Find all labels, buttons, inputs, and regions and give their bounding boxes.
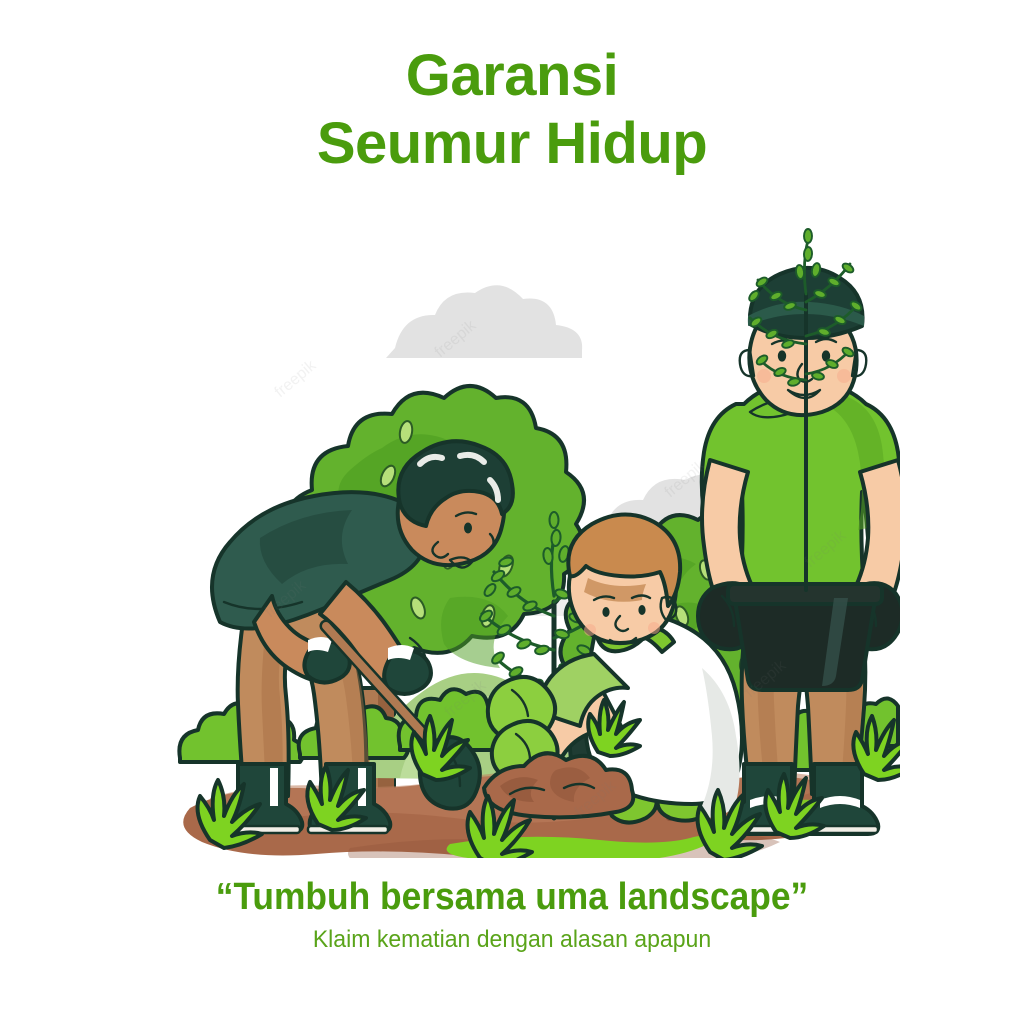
- subtagline: Klaim kematian dengan alasan apapun: [20, 926, 1003, 954]
- poster-root: Garansi Seumur Hidup .ol { stroke:#16342…: [0, 0, 1024, 1024]
- illustration-tree-planting: .ol { stroke:#16342a; stroke-width:4; st…: [150, 198, 900, 858]
- page-title: Garansi Seumur Hidup: [0, 42, 1024, 178]
- page-title-line2: Seumur Hidup: [0, 110, 1024, 178]
- svg-text:freepik: freepik: [272, 357, 320, 402]
- tagline: “Tumbuh bersama uma landscape”: [36, 876, 988, 918]
- plant-pot: [728, 584, 882, 690]
- page-title-line1: Garansi: [0, 42, 1024, 110]
